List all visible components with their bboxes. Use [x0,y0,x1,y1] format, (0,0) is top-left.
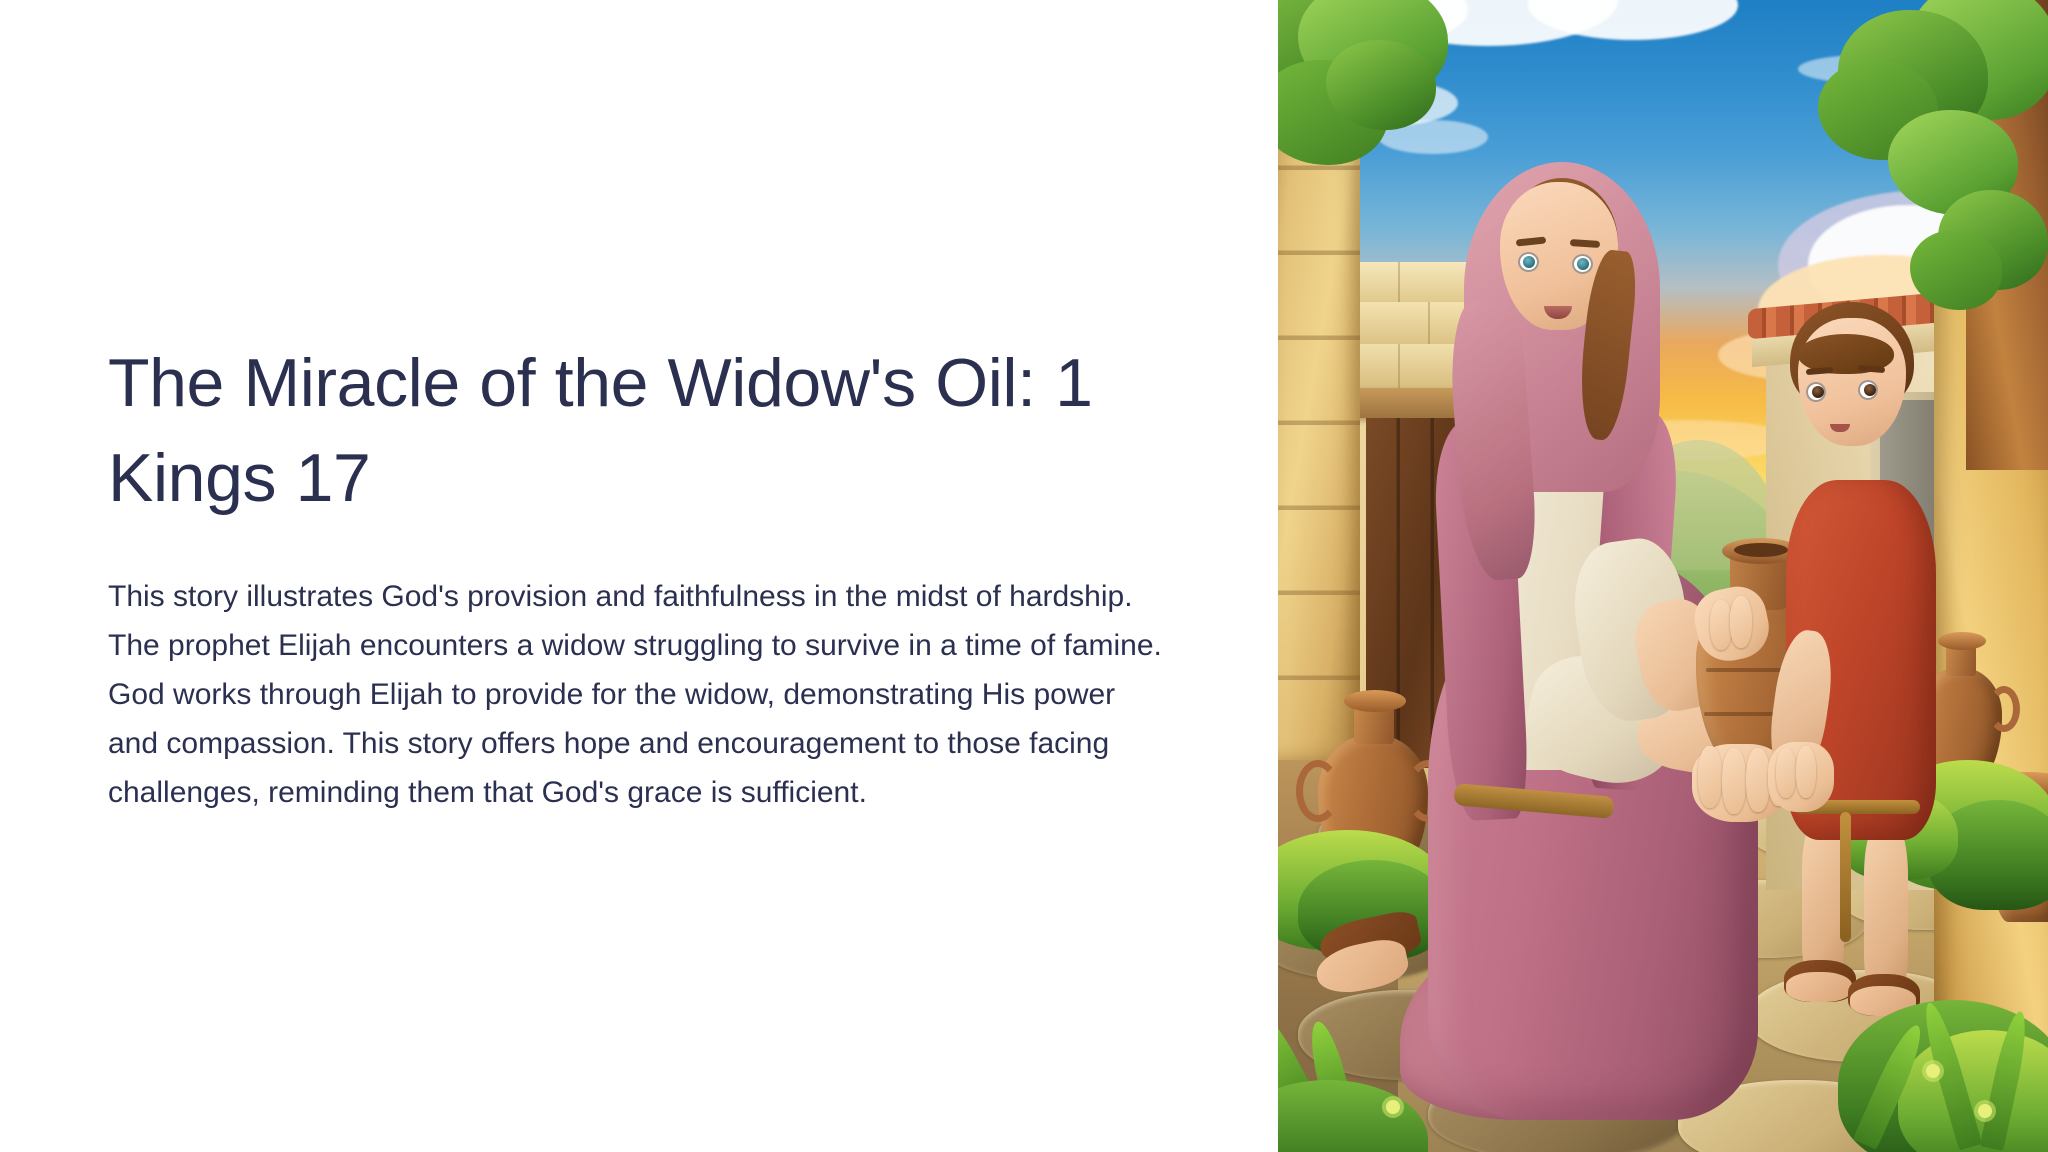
finger [1730,596,1752,648]
brick-line [1398,344,1400,390]
scene-illustration [1278,0,2048,1152]
brick-line [1398,262,1400,302]
jug-opening [1734,543,1788,557]
finger [1722,748,1746,814]
text-panel: The Miracle of the Widow's Oil: 1 Kings … [0,0,1278,1152]
finger [1698,746,1722,808]
finger [1796,746,1816,798]
text-content: The Miracle of the Widow's Oil: 1 Kings … [108,336,1168,817]
small-flower [1386,1100,1400,1114]
boy-iris [1864,384,1876,396]
body-paragraph: This story illustrates God's provision a… [108,572,1166,817]
brick-line [1428,302,1430,344]
page-title: The Miracle of the Widow's Oil: 1 Kings … [108,336,1168,526]
boy-leg [1864,824,1908,996]
widow-iris [1577,258,1589,270]
small-flower [1978,1104,1992,1118]
small-flower [1926,1064,1940,1078]
boy-leg [1802,822,1844,982]
finger [1776,748,1796,798]
boy-belt-tail [1840,812,1851,942]
tree-foliage [1910,230,2002,310]
widow-iris [1523,256,1535,268]
boy-iris [1812,386,1824,398]
finger [1746,748,1770,812]
illustration-panel [1278,0,2048,1152]
boy-foot [1786,972,1852,1002]
slide: The Miracle of the Widow's Oil: 1 Kings … [0,0,2048,1152]
finger [1710,600,1732,650]
